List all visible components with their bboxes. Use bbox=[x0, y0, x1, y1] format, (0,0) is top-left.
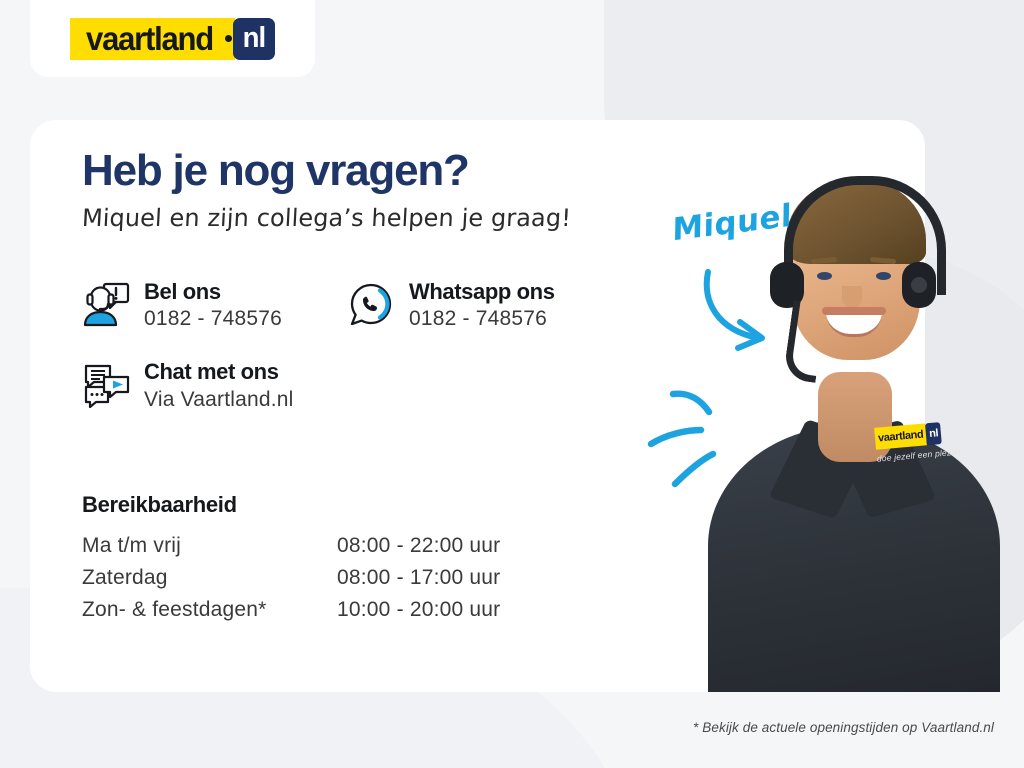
logo-yellow-block: vaartland bbox=[70, 18, 225, 60]
logo-tld: nl bbox=[243, 24, 266, 53]
availability-title: Bereikbaarheid bbox=[82, 492, 602, 518]
contact-chat-value: Via Vaartland.nl bbox=[144, 388, 294, 412]
contact-call[interactable]: Bel ons 0182 - 748576 bbox=[82, 278, 347, 331]
availability-time: 08:00 - 22:00 uur bbox=[337, 530, 552, 562]
contact-chat-text: Chat met ons Via Vaartland.nl bbox=[144, 358, 294, 411]
availability-time: 10:00 - 20:00 uur bbox=[337, 594, 552, 626]
contact-call-text: Bel ons 0182 - 748576 bbox=[144, 278, 282, 331]
vaartland-logo-mark: vaartland nl bbox=[70, 18, 275, 60]
table-row: Zon- & feestdagen* 10:00 - 20:00 uur bbox=[82, 594, 552, 626]
availability-time: 08:00 - 17:00 uur bbox=[337, 562, 552, 594]
page-subtitle: Miquel en zijn collega’s helpen je graag… bbox=[81, 204, 642, 232]
chat-bubbles-icon bbox=[82, 360, 130, 408]
promo-banner: vaartland nl Heb je nog vragen? Miquel e… bbox=[0, 0, 1024, 768]
contact-chat[interactable]: Chat met ons Via Vaartland.nl bbox=[82, 358, 682, 411]
availability-day: Ma t/m vrij bbox=[82, 530, 337, 562]
polo-tagline: doe jezelf een plezier bbox=[876, 446, 963, 463]
availability-day: Zaterdag bbox=[82, 562, 337, 594]
availability-section: Bereikbaarheid Ma t/m vrij 08:00 - 22:00… bbox=[82, 492, 602, 626]
headset-person-icon bbox=[82, 280, 130, 328]
brand-logo[interactable]: vaartland nl bbox=[30, 0, 315, 77]
contact-call-title: Bel ons bbox=[144, 279, 282, 304]
curved-arrow-icon bbox=[700, 268, 810, 363]
contact-whatsapp[interactable]: Whatsapp ons 0182 - 748576 bbox=[347, 278, 555, 331]
contact-whatsapp-text: Whatsapp ons 0182 - 748576 bbox=[409, 278, 555, 331]
logo-wordmark: vaartland bbox=[86, 22, 213, 55]
footnote: * Bekijk de actuele openingstijden op Va… bbox=[693, 720, 994, 735]
headset-earcup-right bbox=[902, 262, 936, 308]
contact-methods: Bel ons 0182 - 748576 Whatsapp on bbox=[82, 278, 682, 412]
contact-row-top: Bel ons 0182 - 748576 Whatsapp on bbox=[82, 278, 682, 331]
table-row: Zaterdag 08:00 - 17:00 uur bbox=[82, 562, 552, 594]
availability-day: Zon- & feestdagen* bbox=[82, 594, 337, 626]
contact-call-value: 0182 - 748576 bbox=[144, 307, 282, 331]
contact-whatsapp-value: 0182 - 748576 bbox=[409, 307, 555, 331]
upper-lip bbox=[822, 307, 886, 315]
polo-brand-patch: vaartland nl doe jezelf een plezier bbox=[874, 420, 964, 473]
polo-logo-word: vaartland bbox=[878, 429, 924, 445]
whatsapp-icon bbox=[347, 280, 395, 328]
blue-dash-marks-icon bbox=[645, 372, 765, 497]
polo-logo-tld: nl bbox=[929, 427, 939, 440]
contact-whatsapp-title: Whatsapp ons bbox=[409, 279, 555, 304]
page-title: Heb je nog vragen? bbox=[82, 148, 642, 194]
availability-table: Ma t/m vrij 08:00 - 22:00 uur Zaterdag 0… bbox=[82, 530, 552, 626]
logo-navy-block: nl bbox=[233, 18, 275, 60]
hero-text: Heb je nog vragen? Miquel en zijn colleg… bbox=[82, 148, 642, 232]
table-row: Ma t/m vrij 08:00 - 22:00 uur bbox=[82, 530, 552, 562]
contact-chat-title: Chat met ons bbox=[144, 359, 294, 384]
